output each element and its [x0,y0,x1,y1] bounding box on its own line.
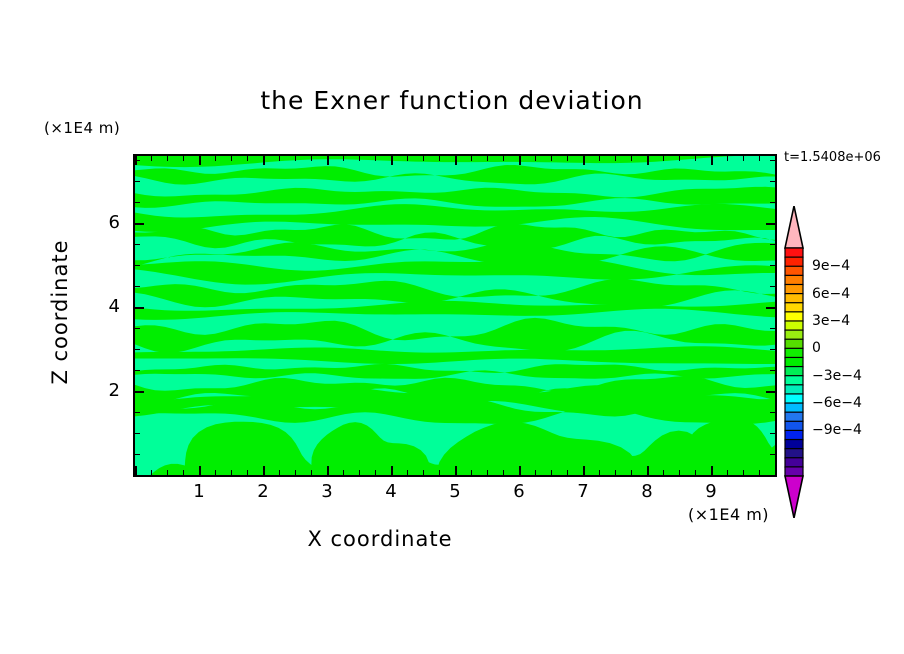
timestamp-annotation: t=1.5408e+06 [784,150,881,165]
tick-mark [583,466,585,475]
tick-mark [135,160,140,161]
colorbar-tick-label: −3e−4 [812,368,862,384]
tick-mark [135,412,140,413]
tick-mark [679,156,680,161]
tick-mark [391,156,393,165]
tick-mark [135,307,144,309]
tick-mark [519,466,521,475]
tick-mark [199,156,201,165]
tick-mark [135,466,137,475]
colorbar-band [785,403,803,413]
y-tick-label: 2 [96,380,120,401]
tick-mark [770,349,775,350]
tick-mark [407,470,408,475]
tick-mark [135,454,140,455]
tick-mark [151,156,152,161]
tick-mark [663,156,664,161]
tick-mark [487,470,488,475]
tick-mark [599,156,600,161]
tick-mark [551,156,552,161]
tick-mark [711,466,713,475]
tick-mark [647,466,649,475]
tick-mark [766,475,775,477]
tick-mark [215,156,216,161]
tick-mark [311,156,312,161]
tick-mark [327,156,329,165]
x-tick-label: 8 [627,481,667,502]
tick-mark [535,470,536,475]
tick-mark [743,156,744,161]
tick-mark [247,156,248,161]
contour-field [135,156,775,475]
tick-mark [743,470,744,475]
colorbar-svg [782,206,806,518]
colorbar-tick-label: −9e−4 [812,422,862,438]
tick-mark [135,328,140,329]
z-axis-unit-label: (×1E4 m) [44,119,120,137]
tick-mark [766,391,775,393]
tick-mark [135,475,144,477]
tick-mark [770,433,775,434]
tick-mark [519,156,521,165]
tick-mark [135,181,140,182]
tick-mark [135,433,140,434]
tick-mark [770,328,775,329]
tick-mark [727,156,728,161]
colorbar-band [785,348,803,358]
tick-mark [375,156,376,161]
x-tick-label: 7 [563,481,603,502]
colorbar-band [785,467,803,477]
tick-mark [775,466,777,475]
tick-mark [663,470,664,475]
colorbar-under-cap [785,476,803,518]
tick-mark [135,265,140,266]
tick-mark [439,470,440,475]
tick-mark [679,470,680,475]
tick-mark [647,156,649,165]
tick-mark [615,156,616,161]
colorbar[interactable] [782,206,806,518]
tick-mark [231,156,232,161]
tick-mark [631,470,632,475]
tick-mark [599,470,600,475]
y-tick-label: 4 [96,296,120,317]
x-axis-label: X coordinate [0,527,760,551]
colorbar-band [785,321,803,331]
colorbar-tick-label: 6e−4 [812,286,850,302]
tick-mark [631,156,632,161]
tick-mark [455,156,457,165]
x-tick-label: 4 [371,481,411,502]
tick-mark [263,466,265,475]
tick-mark [135,223,144,225]
tick-mark [567,156,568,161]
colorbar-band [785,275,803,285]
colorbar-band [785,294,803,304]
colorbar-tick-label: 9e−4 [812,258,850,274]
tick-mark [766,223,775,225]
colorbar-band [785,440,803,450]
contour-plot-figure: the Exner function deviation (×1E4 m) t=… [0,0,904,654]
tick-mark [727,470,728,475]
tick-mark [183,156,184,161]
x-tick-label: 5 [435,481,475,502]
tick-mark [503,470,504,475]
tick-mark [759,156,760,161]
tick-mark [423,156,424,161]
colorbar-band [785,330,803,340]
tick-mark [343,470,344,475]
x-tick-label: 6 [499,481,539,502]
tick-mark [770,181,775,182]
tick-mark [551,470,552,475]
x-tick-label: 3 [307,481,347,502]
tick-mark [711,156,713,165]
tick-mark [375,470,376,475]
tick-mark [231,470,232,475]
tick-mark [487,156,488,161]
tick-mark [407,156,408,161]
tick-mark [770,244,775,245]
contour-svg [135,156,775,475]
colorbar-band [785,266,803,276]
tick-mark [775,156,777,165]
tick-mark [471,156,472,161]
tick-mark [423,470,424,475]
tick-mark [391,466,393,475]
colorbar-band [785,303,803,313]
tick-mark [135,349,140,350]
tick-mark [615,470,616,475]
y-axis-label: Z coordinate [48,192,72,432]
tick-mark [359,156,360,161]
tick-mark [167,156,168,161]
colorbar-band [785,357,803,367]
tick-mark [567,470,568,475]
page-title: the Exner function deviation [0,86,904,115]
tick-mark [766,307,775,309]
y-tick-label: 6 [96,212,120,233]
tick-mark [770,265,775,266]
tick-mark [471,470,472,475]
x-axis-unit-label: (×1E4 m) [688,505,769,524]
tick-mark [135,202,140,203]
tick-mark [167,470,168,475]
tick-mark [295,156,296,161]
colorbar-tick-label: 3e−4 [812,313,850,329]
tick-mark [770,202,775,203]
colorbar-band [785,394,803,404]
tick-mark [151,470,152,475]
tick-mark [439,156,440,161]
colorbar-over-cap [785,206,803,248]
tick-mark [135,244,140,245]
colorbar-band [785,421,803,431]
colorbar-band [785,430,803,440]
tick-mark [535,156,536,161]
tick-mark [135,286,140,287]
tick-mark [247,470,248,475]
colorbar-band [785,412,803,422]
colorbar-tick-label: −6e−4 [812,395,862,411]
tick-mark [770,286,775,287]
colorbar-band [785,376,803,386]
tick-mark [279,156,280,161]
tick-mark [135,370,140,371]
tick-mark [359,470,360,475]
colorbar-tick-label: 0 [812,340,821,356]
tick-mark [295,470,296,475]
colorbar-band [785,449,803,459]
colorbar-band [785,458,803,468]
tick-mark [695,470,696,475]
tick-mark [770,412,775,413]
tick-mark [279,470,280,475]
colorbar-band [785,257,803,267]
tick-mark [759,470,760,475]
tick-mark [770,370,775,371]
tick-mark [311,470,312,475]
tick-mark [343,156,344,161]
colorbar-band [785,312,803,322]
tick-mark [135,391,144,393]
tick-mark [263,156,265,165]
tick-mark [503,156,504,161]
colorbar-band [785,248,803,258]
tick-mark [215,470,216,475]
x-tick-label: 9 [691,481,731,502]
tick-mark [455,466,457,475]
tick-mark [183,470,184,475]
colorbar-band [785,284,803,294]
colorbar-band [785,339,803,349]
x-tick-label: 1 [179,481,219,502]
tick-mark [583,156,585,165]
colorbar-band [785,367,803,377]
tick-mark [770,160,775,161]
tick-mark [770,454,775,455]
tick-mark [327,466,329,475]
colorbar-band [785,385,803,395]
tick-mark [695,156,696,161]
x-tick-label: 2 [243,481,283,502]
tick-mark [199,466,201,475]
